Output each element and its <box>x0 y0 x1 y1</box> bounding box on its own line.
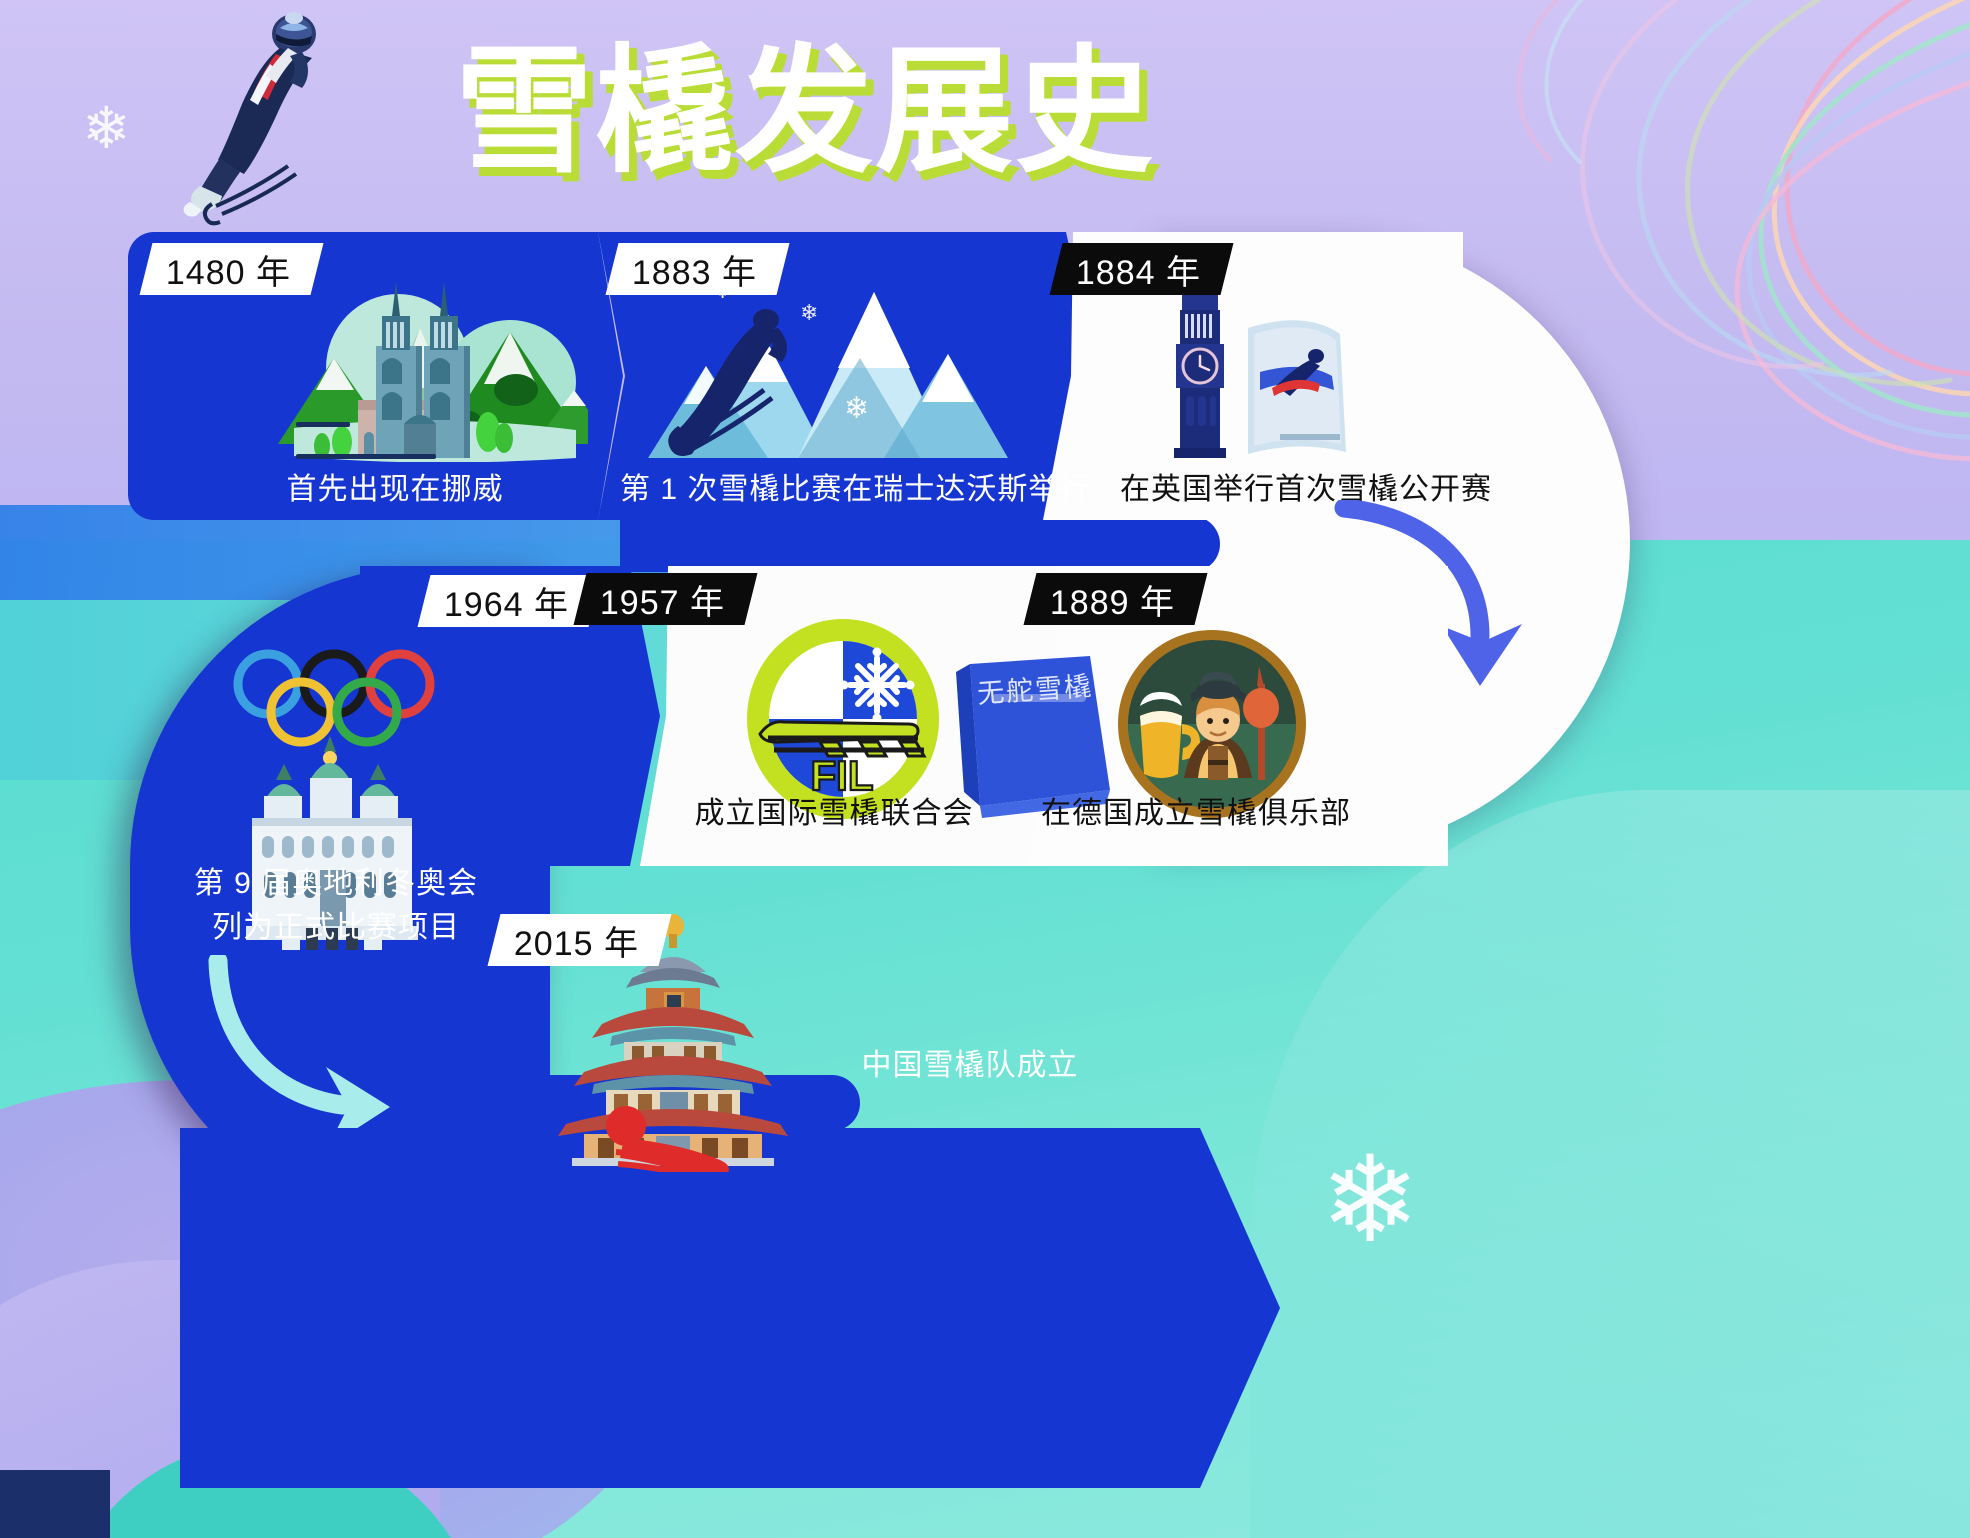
caption-1889: 在德国成立雪橇俱乐部 <box>1036 788 1356 832</box>
year-tag-1883: 1883 年 <box>606 243 790 295</box>
year-tag-2015: 2015 年 <box>488 914 672 966</box>
svg-text:❄: ❄ <box>800 300 818 325</box>
card-2015[interactable] <box>180 1128 1280 1488</box>
norway-cathedral-mountains-icon <box>278 272 588 462</box>
caption-1957: 成立国际雪橇联合会 <box>684 788 984 832</box>
caption-1964-line1: 第 9 届奥地利冬奥会 <box>176 862 496 906</box>
caption-1480: 首先出现在挪威 <box>270 464 520 508</box>
flow-arrow-row2-to-row3 <box>200 955 420 1155</box>
caption-1964: 第 9 届奥地利冬奥会 列为正式比赛项目 <box>176 862 496 950</box>
svg-text:❄: ❄ <box>844 392 869 425</box>
year-tag-1884: 1884 年 <box>1050 243 1234 295</box>
connector-row1-row2 <box>620 516 1220 572</box>
year-tag-1889: 1889 年 <box>1024 573 1208 625</box>
caption-2015: 中国雪橇队成立 <box>800 1040 1140 1084</box>
timeline: ❄ ❄ ❄ 1480 年 1 <box>0 0 1970 1538</box>
year-tag-1480: 1480 年 <box>140 243 324 295</box>
caption-1964-line2: 列为正式比赛项目 <box>176 906 496 950</box>
year-tag-1957: 1957 年 <box>574 573 758 625</box>
caption-1883: 第 1 次雪橇比赛在瑞士达沃斯举行 <box>620 464 1080 508</box>
